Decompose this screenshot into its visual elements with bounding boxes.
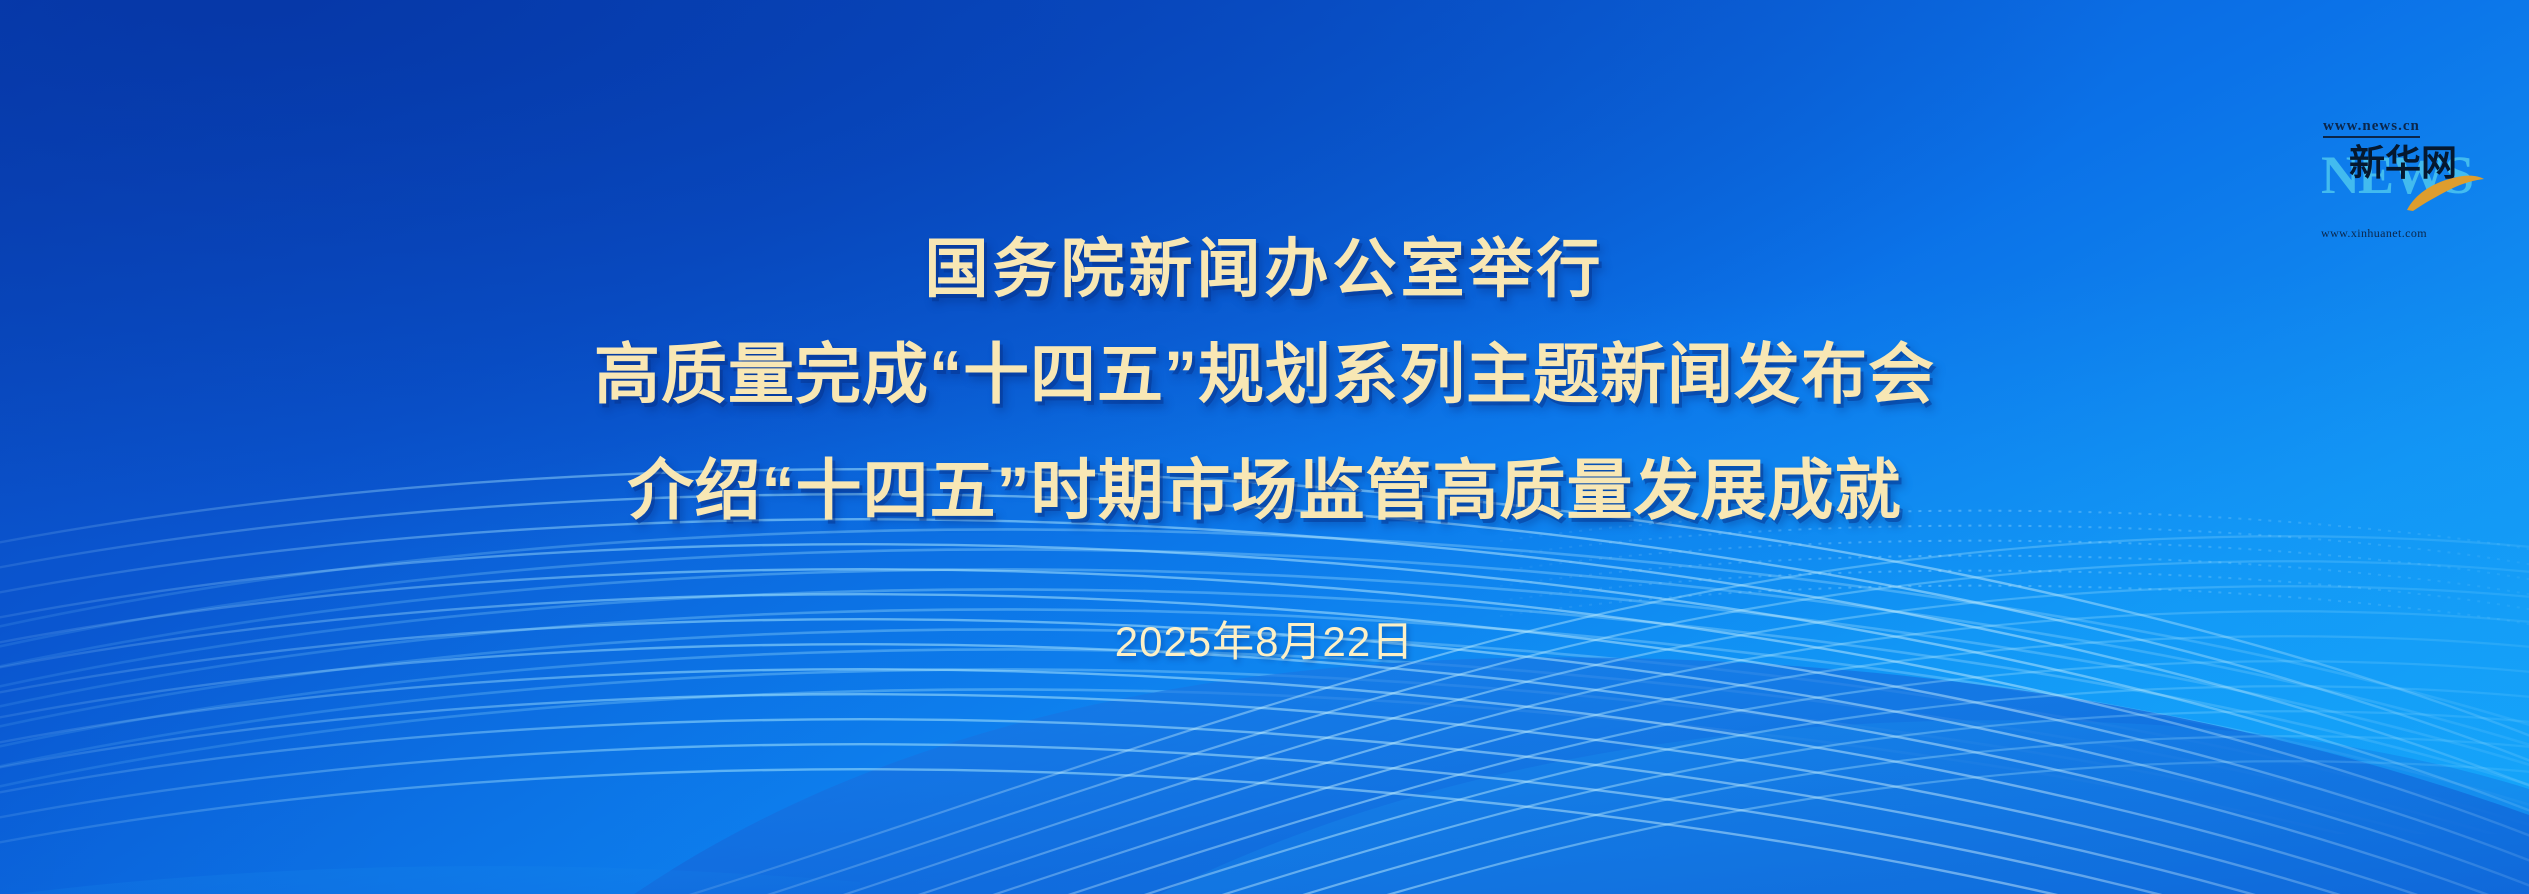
press-conference-banner: 国务院新闻办公室举行 高质量完成“十四五”规划系列主题新闻发布会 介绍“十四五”…	[0, 0, 2529, 894]
event-date: 2025年8月22日	[0, 608, 2529, 669]
title-line-2: 高质量完成“十四五”规划系列主题新闻发布会	[0, 316, 2529, 432]
orange-swoosh-icon	[2405, 174, 2485, 212]
logo-mark: NEWS 新华网	[2319, 140, 2489, 216]
xinhua-logo-watermark: www.news.cn NEWS 新华网 www.xinhuanet.com	[2319, 118, 2489, 238]
logo-url-top: www.news.cn	[2323, 118, 2420, 138]
headline-block: 国务院新闻办公室举行 高质量完成“十四五”规划系列主题新闻发布会 介绍“十四五”…	[0, 222, 2529, 548]
title-line-1: 国务院新闻办公室举行	[0, 222, 2529, 316]
logo-url-bottom: www.xinhuanet.com	[2321, 226, 2427, 240]
title-line-3: 介绍“十四五”时期市场监管高质量发展成就	[0, 432, 2529, 548]
